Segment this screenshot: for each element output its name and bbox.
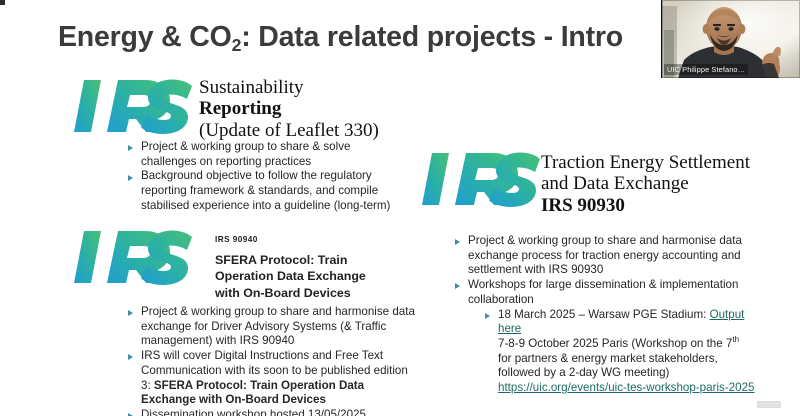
traction-heading: Traction Energy Settlement and Data Exch…	[541, 152, 800, 216]
sfera-heading: SFERA Protocol: Train Operation Data Exc…	[215, 252, 430, 301]
list-item: Dissemination workshop hosted 13/05/2025	[128, 408, 418, 416]
sfera-bullets: Project & working group to share and har…	[128, 305, 418, 416]
irs-logo-traction	[418, 150, 540, 208]
list-item: Project & working group to share and har…	[128, 305, 418, 349]
list-item-text: Project & working group to share and har…	[141, 305, 418, 349]
sfera-heading-line3: with On-Board Devices	[215, 285, 430, 301]
sub-bullet-text-plain: 18 March 2025 – Warsaw PGE Stadium:	[498, 308, 710, 321]
list-item: Workshops for large dissemination & impl…	[455, 278, 755, 307]
paris-workshop-url-link[interactable]: https://uic.org/events/uic-tes-workshop-…	[498, 381, 754, 394]
slide-title: Energy & CO2: Data related projects - In…	[58, 21, 623, 54]
traction-heading-line1: Traction Energy Settlement	[541, 152, 800, 173]
traction-bullets: Project & working group to share and har…	[455, 234, 755, 396]
participant-name-label: UIC Philippe Stefano…	[664, 64, 748, 75]
sustainability-heading-line2: Reporting	[199, 98, 499, 119]
list-item-text-emphasis: SFERA Protocol: Train Operation Data Exc…	[141, 379, 364, 407]
sfera-irs-number: IRS 90940	[215, 235, 258, 244]
list-item: Background objective to follow the regul…	[128, 169, 400, 213]
list-item: 18 March 2025 – Warsaw PGE Stadium: Outp…	[485, 308, 755, 337]
list-item-text: Workshops for large dissemination & impl…	[468, 278, 755, 307]
irs-logo-sustainability	[70, 77, 192, 135]
list-item: IRS will cover Digital Instructions and …	[128, 349, 418, 408]
list-item: Project & working group to share and har…	[455, 234, 755, 278]
slide-title-prefix: Energy & CO	[58, 21, 232, 53]
traction-heading-line3: IRS 90930	[541, 195, 800, 216]
list-item-text: Project & working group to share & solve…	[141, 140, 400, 169]
paris-workshop-text-1: 7-8-9 October 2025 Paris (Workshop on th…	[498, 337, 732, 350]
paris-workshop-text-2: for partners & energy market stakeholder…	[498, 352, 718, 380]
sustainability-heading: Sustainability Reporting (Update of Leaf…	[199, 77, 499, 141]
ordinal-suffix: th	[732, 335, 739, 344]
slide-title-suffix: : Data related projects - Intro	[241, 21, 623, 53]
presentation-slide: Energy & CO2: Data related projects - In…	[0, 0, 800, 416]
video-participant-tile[interactable]: UIC Philippe Stefano…	[661, 0, 800, 78]
sfera-heading-line2: Operation Data Exchange	[215, 268, 430, 284]
list-item: 7-8-9 October 2025 Paris (Workshop on th…	[485, 337, 755, 396]
list-item-text: IRS will cover Digital Instructions and …	[141, 349, 418, 408]
list-item: Project & working group to share & solve…	[128, 140, 400, 169]
list-item-text: Dissemination workshop hosted 13/05/2025	[141, 408, 418, 416]
sustainability-bullets: Project & working group to share & solve…	[128, 140, 400, 214]
list-item-text: Background objective to follow the regul…	[141, 169, 400, 213]
list-item-text: 18 March 2025 – Warsaw PGE Stadium: Outp…	[498, 308, 755, 337]
list-item-text: 7-8-9 October 2025 Paris (Workshop on th…	[498, 337, 755, 396]
sustainability-heading-line1: Sustainability	[199, 77, 499, 98]
traction-sub-bullets: 18 March 2025 – Warsaw PGE Stadium: Outp…	[455, 308, 755, 396]
list-item-text: Project & working group to share and har…	[468, 234, 755, 278]
sfera-heading-line1: SFERA Protocol: Train	[215, 252, 430, 268]
corner-speck	[0, 0, 5, 5]
slide-title-subscript: 2	[232, 35, 242, 55]
bottom-right-ui-sliver	[757, 401, 781, 408]
sustainability-heading-line3: (Update of Leaflet 330)	[199, 120, 499, 141]
traction-heading-line2: and Data Exchange	[541, 173, 800, 194]
irs-logo-sfera	[70, 228, 192, 286]
